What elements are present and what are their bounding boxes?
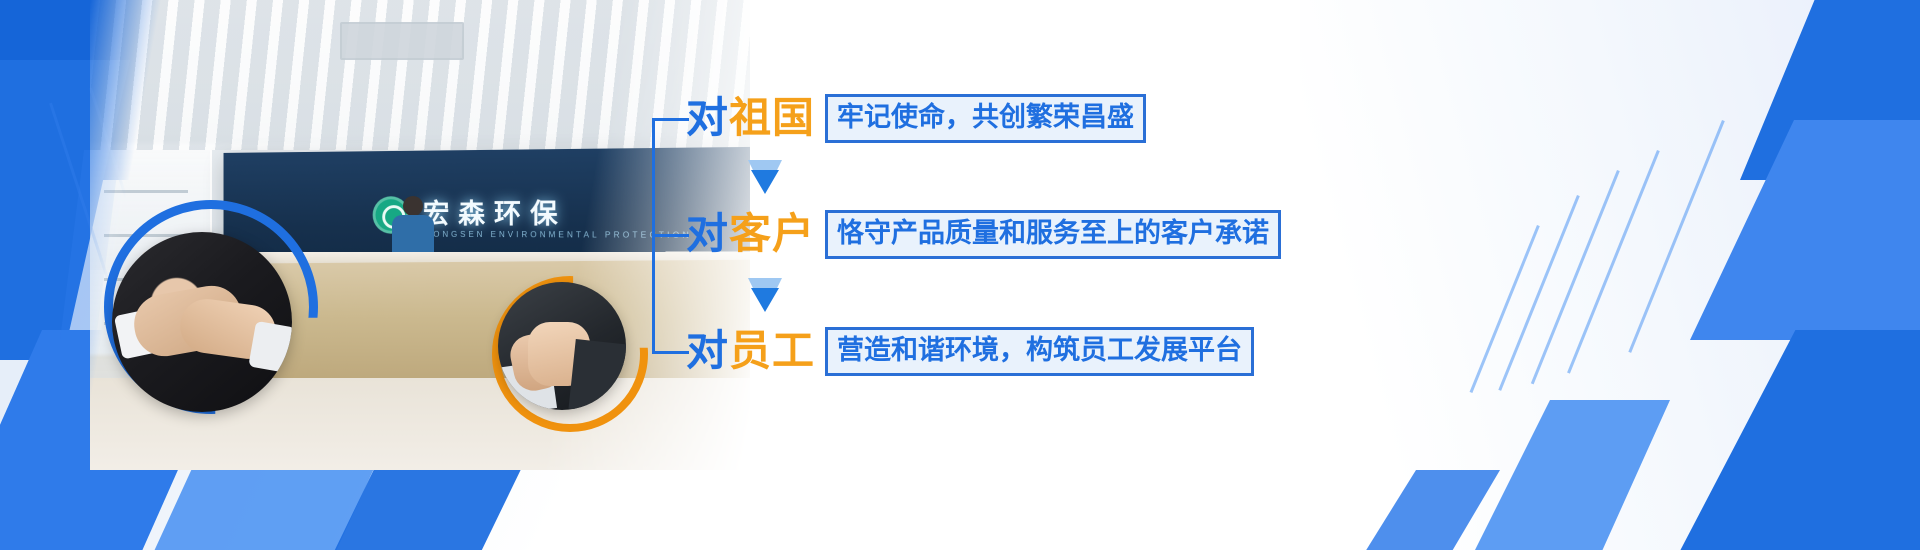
- chevron-down-icon: [748, 278, 782, 312]
- bracket-tick-2: [655, 234, 689, 237]
- suit-shoulder: [569, 339, 626, 410]
- chevron-cap: [748, 278, 782, 289]
- ceiling-panel: [340, 22, 464, 60]
- bracket-tick-3: [655, 351, 689, 354]
- kicker-prefix: 对: [686, 326, 729, 375]
- company-name-sign: 宏森环保: [423, 192, 567, 232]
- applause-photo: [498, 282, 626, 410]
- commitment-kicker-customer: 对客户: [686, 213, 815, 255]
- chevron-down-icon: [748, 160, 782, 194]
- commitment-row-employee: 对员工 营造和谐环境，构筑员工发展平台: [686, 325, 1254, 377]
- commitment-statement-country: 牢记使命，共创繁荣昌盛: [825, 94, 1146, 143]
- chevron-cap: [748, 160, 782, 171]
- kicker-target: 祖国: [729, 93, 815, 142]
- promo-banner: 宏森环保 HONGSEN ENVIRONMENTAL PROTECTION: [0, 0, 1920, 550]
- commitment-kicker-country: 对祖国: [686, 97, 815, 139]
- shelf-line: [104, 190, 188, 193]
- commitment-statement-customer: 恪守产品质量和服务至上的客户承诺: [825, 210, 1281, 259]
- commitment-row-country: 对祖国 牢记使命，共创繁荣昌盛: [686, 92, 1146, 144]
- kicker-target: 客户: [729, 209, 815, 258]
- commitment-row-customer: 对客户 恪守产品质量和服务至上的客户承诺: [686, 208, 1281, 260]
- bracket-tick-1: [655, 118, 689, 121]
- chevron-triangle: [751, 170, 779, 194]
- bracket-connector: [652, 118, 689, 354]
- commitment-statement-employee: 营造和谐环境，构筑员工发展平台: [825, 327, 1254, 376]
- kicker-prefix: 对: [686, 93, 729, 142]
- kicker-target: 员工: [729, 326, 815, 375]
- kicker-prefix: 对: [686, 209, 729, 258]
- figure-head: [403, 196, 423, 216]
- commitment-kicker-employee: 对员工: [686, 330, 815, 372]
- shirt-cuff: [248, 321, 292, 373]
- handshake-photo: [112, 232, 292, 412]
- chevron-triangle: [751, 288, 779, 312]
